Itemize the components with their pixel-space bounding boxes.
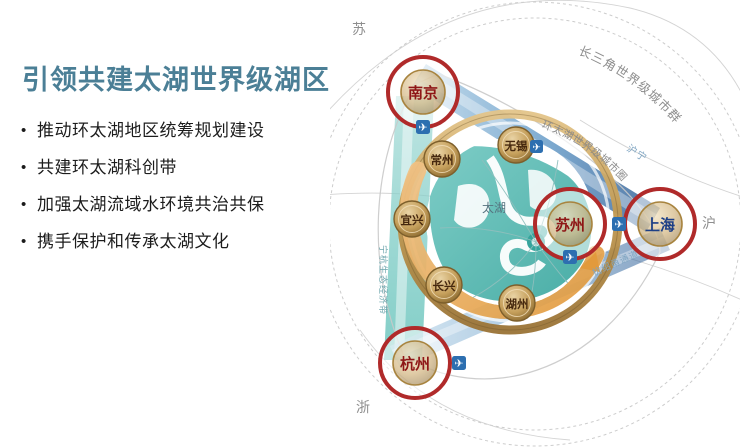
page-title: 引领共建太湖世界级湖区: [22, 58, 330, 97]
corridor-label-ninghang: 宁杭生态经济带: [378, 245, 389, 315]
bullet-marker-icon: •: [18, 194, 37, 216]
slide-text-panel: 引领共建太湖世界级湖区 • 推动环太湖地区统筹规划建设 • 共建环太湖科创带 •…: [0, 0, 370, 448]
list-item-label: 加强太湖流域水环境共治共保: [37, 194, 265, 216]
corridor-label-huning: 沪宁: [624, 142, 650, 165]
svg-text:✈: ✈: [454, 358, 463, 370]
hub-city-label: 上海: [645, 216, 675, 234]
hub-city-label: 苏州: [555, 216, 585, 234]
airport-icon: ✈: [612, 217, 626, 231]
ring-city-label: 常州: [431, 153, 454, 167]
ring-city-yixing[interactable]: 宜兴: [394, 201, 430, 237]
list-item: • 加强太湖流域水环境共治共保: [18, 194, 348, 216]
ring-city-label: 湖州: [506, 297, 529, 311]
ring-city-label: 宜兴: [401, 213, 424, 227]
svg-text:✈: ✈: [532, 143, 540, 154]
list-item-label: 推动环太湖地区统筹规划建设: [37, 120, 265, 142]
airport-icon: ✈: [452, 356, 466, 370]
bullet-list: • 推动环太湖地区统筹规划建设 • 共建环太湖科创带 • 加强太湖流域水环境共治…: [18, 120, 348, 268]
slide-root: 太湖 长三角世界级城市群 环太湖世界级城市圈 宁杭生态经济带 沪宁 杭绍甬通道 …: [0, 0, 740, 448]
list-item: • 共建环太湖科创带: [18, 157, 348, 179]
bullet-marker-icon: •: [18, 231, 37, 253]
ring-city-label: 长兴: [433, 279, 456, 293]
outer-arc-label: 长三角世界级城市群: [577, 44, 684, 126]
list-item-label: 共建环太湖科创带: [37, 157, 177, 179]
hub-city-label: 南京: [408, 84, 438, 102]
ring-city-changzhou[interactable]: 常州: [424, 141, 460, 177]
svg-text:✈: ✈: [418, 122, 427, 134]
hub-city-label: 杭州: [400, 355, 430, 373]
ring-city-huzhou[interactable]: 湖州: [499, 285, 535, 321]
airport-icon: ✈: [563, 250, 577, 264]
svg-text:✈: ✈: [614, 219, 623, 231]
province-mark-hu: 沪: [702, 215, 716, 231]
ring-city-changxing[interactable]: 长兴: [426, 267, 462, 303]
bullet-marker-icon: •: [18, 157, 37, 179]
lake-label: 太湖: [482, 200, 506, 215]
airport-icon: ✈: [416, 120, 430, 134]
ring-city-label: 无锡: [504, 139, 528, 153]
list-item: • 推动环太湖地区统筹规划建设: [18, 120, 348, 142]
airport-icon: ✈: [530, 140, 543, 154]
taihu-region-diagram: 太湖 长三角世界级城市群 环太湖世界级城市圈 宁杭生态经济带 沪宁 杭绍甬通道 …: [330, 0, 740, 448]
svg-text:✈: ✈: [565, 252, 574, 264]
list-item: • 携手保护和传承太湖文化: [18, 231, 348, 253]
bullet-marker-icon: •: [18, 120, 37, 142]
list-item-label: 携手保护和传承太湖文化: [37, 231, 230, 253]
